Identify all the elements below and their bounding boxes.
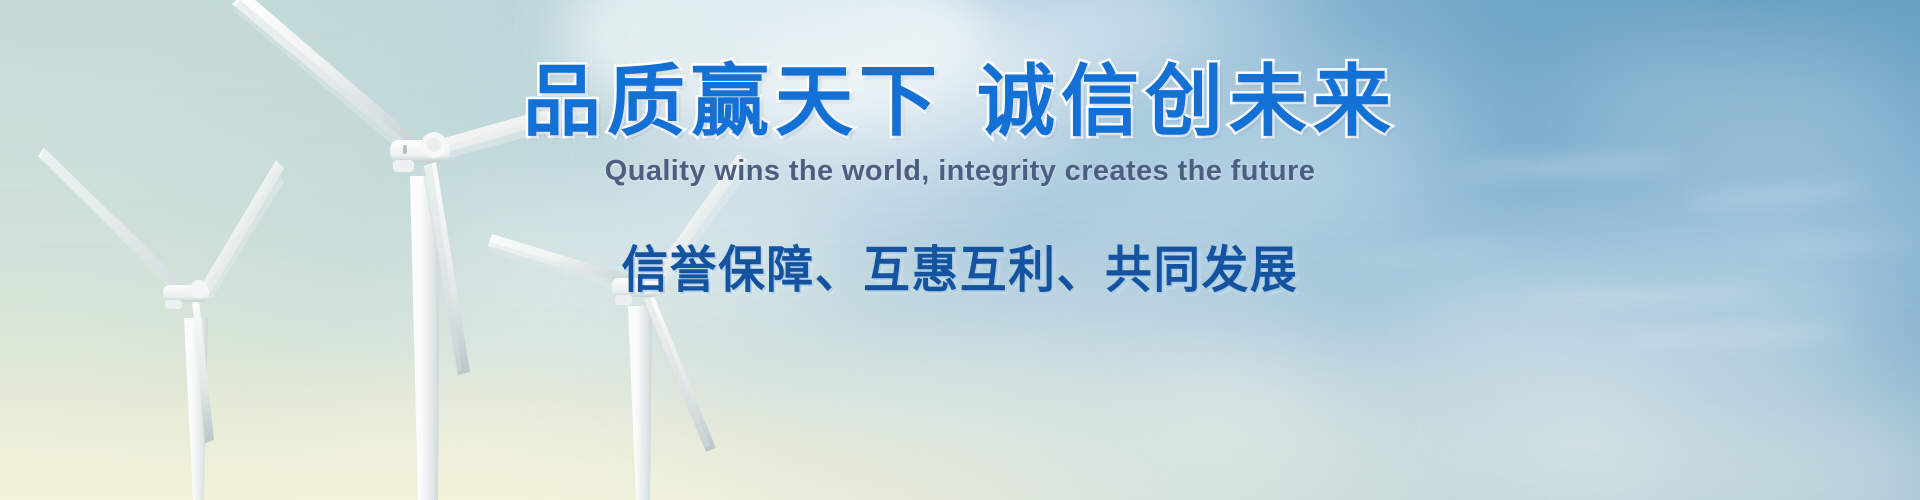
headline-phrase-one: 品质赢天下	[523, 57, 943, 145]
banner-headline: 品质赢天下诚信创未来	[0, 58, 1920, 145]
banner-subtitle: Quality wins the world, integrity create…	[0, 155, 1920, 188]
headline-phrase-two: 诚信创未来	[977, 57, 1397, 145]
banner-tagline: 信誉保障、互惠互利、共同发展	[67, 230, 1853, 302]
banner-text-block: 品质赢天下诚信创未来 Quality wins the world, integ…	[0, 58, 1920, 302]
hero-banner: 品质赢天下诚信创未来 Quality wins the world, integ…	[0, 0, 1920, 500]
